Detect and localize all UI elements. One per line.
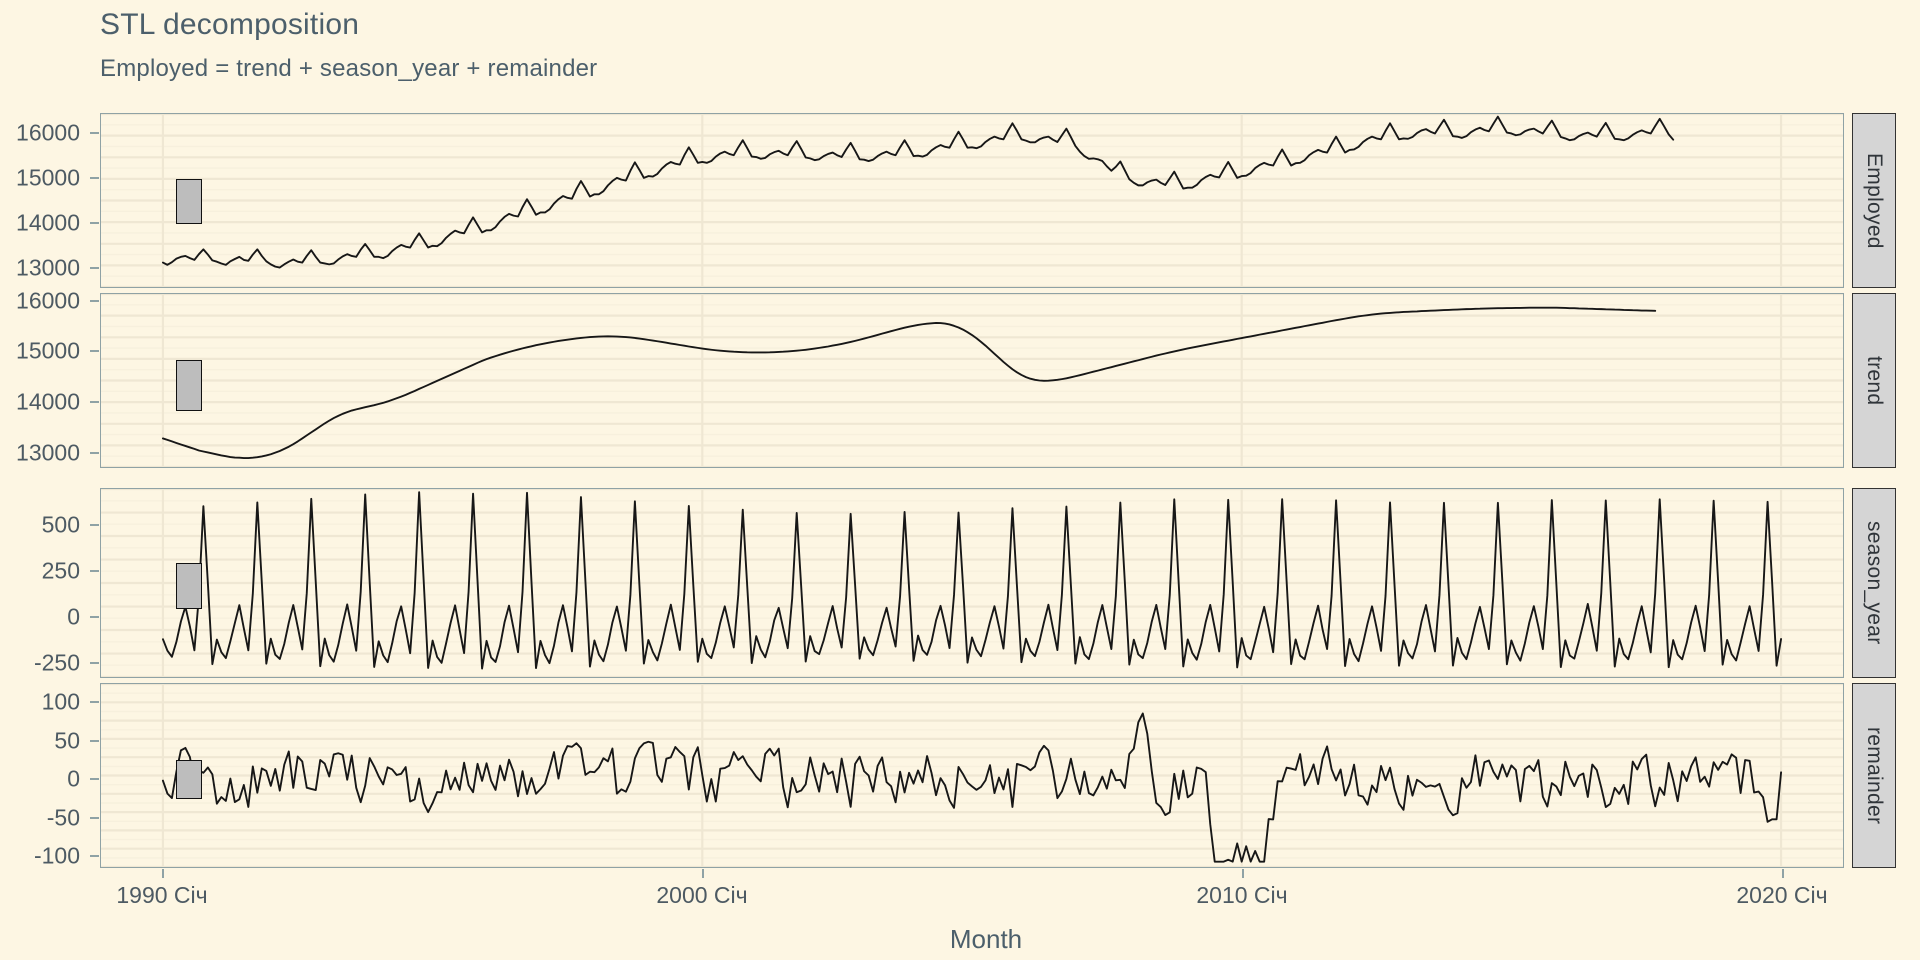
scale-reference-bar — [176, 760, 202, 799]
y-tick-label: 14000 — [0, 389, 80, 416]
y-tick-label: 16000 — [0, 120, 80, 147]
y-tick-label: 13000 — [0, 439, 80, 466]
y-tick-mark — [90, 350, 99, 352]
strip-remainder: remainder — [1852, 683, 1896, 868]
scale-reference-bar — [176, 563, 202, 609]
x-tick-label: 1990 Січ — [116, 882, 207, 909]
y-tick-mark — [90, 177, 99, 179]
y-tick-label: -250 — [0, 650, 80, 677]
strip-label-season-year: season_year — [1862, 521, 1886, 645]
x-tick-label: 2000 Січ — [656, 882, 747, 909]
panel-employed — [100, 113, 1844, 288]
strip-employed: Employed — [1852, 113, 1896, 288]
y-tick-label: 50 — [0, 727, 80, 754]
strip-trend: trend — [1852, 293, 1896, 468]
y-tick-label: 16000 — [0, 287, 80, 314]
y-tick-mark — [90, 817, 99, 819]
y-tick-label: 13000 — [0, 254, 80, 281]
strip-label-trend: trend — [1862, 356, 1886, 405]
y-tick-label: 15000 — [0, 165, 80, 192]
x-axis-title: Month — [950, 924, 1022, 955]
x-tick-mark — [702, 869, 704, 878]
y-tick-mark — [90, 778, 99, 780]
strip-label-employed: Employed — [1862, 153, 1886, 249]
scale-reference-bar — [176, 360, 202, 411]
series-line — [163, 308, 1655, 458]
page-subtitle: Employed = trend + season_year + remaind… — [100, 55, 597, 83]
y-tick-mark — [90, 616, 99, 618]
y-tick-label: 500 — [0, 511, 80, 538]
y-tick-mark — [90, 401, 99, 403]
y-tick-mark — [90, 452, 99, 454]
y-tick-label: 15000 — [0, 338, 80, 365]
y-tick-mark — [90, 855, 99, 857]
x-tick-mark — [1782, 869, 1784, 878]
y-tick-label: -100 — [0, 843, 80, 870]
panel-trend — [100, 293, 1844, 468]
y-tick-mark — [90, 222, 99, 224]
y-tick-mark — [90, 267, 99, 269]
panel-season-year — [100, 488, 1844, 678]
scale-reference-bar — [176, 179, 202, 224]
y-tick-mark — [90, 701, 99, 703]
y-tick-label: 0 — [0, 766, 80, 793]
y-tick-label: 0 — [0, 604, 80, 631]
strip-label-remainder: remainder — [1862, 727, 1886, 824]
y-tick-mark — [90, 570, 99, 572]
y-tick-mark — [90, 524, 99, 526]
stl-decomposition-chart: STL decomposition Employed = trend + sea… — [0, 0, 1920, 960]
y-tick-mark — [90, 740, 99, 742]
x-tick-label: 2020 Січ — [1736, 882, 1827, 909]
strip-season-year: season_year — [1852, 488, 1896, 678]
series-line — [163, 117, 1673, 268]
y-tick-label: 14000 — [0, 209, 80, 236]
x-tick-label: 2010 Січ — [1196, 882, 1287, 909]
x-tick-mark — [1242, 869, 1244, 878]
y-tick-label: 250 — [0, 558, 80, 585]
x-tick-mark — [162, 869, 164, 878]
y-tick-mark — [90, 300, 99, 302]
panel-remainder — [100, 683, 1844, 868]
y-tick-label: -50 — [0, 804, 80, 831]
y-tick-label: 100 — [0, 689, 80, 716]
y-tick-mark — [90, 662, 99, 664]
y-tick-mark — [90, 132, 99, 134]
page-title: STL decomposition — [100, 8, 359, 42]
